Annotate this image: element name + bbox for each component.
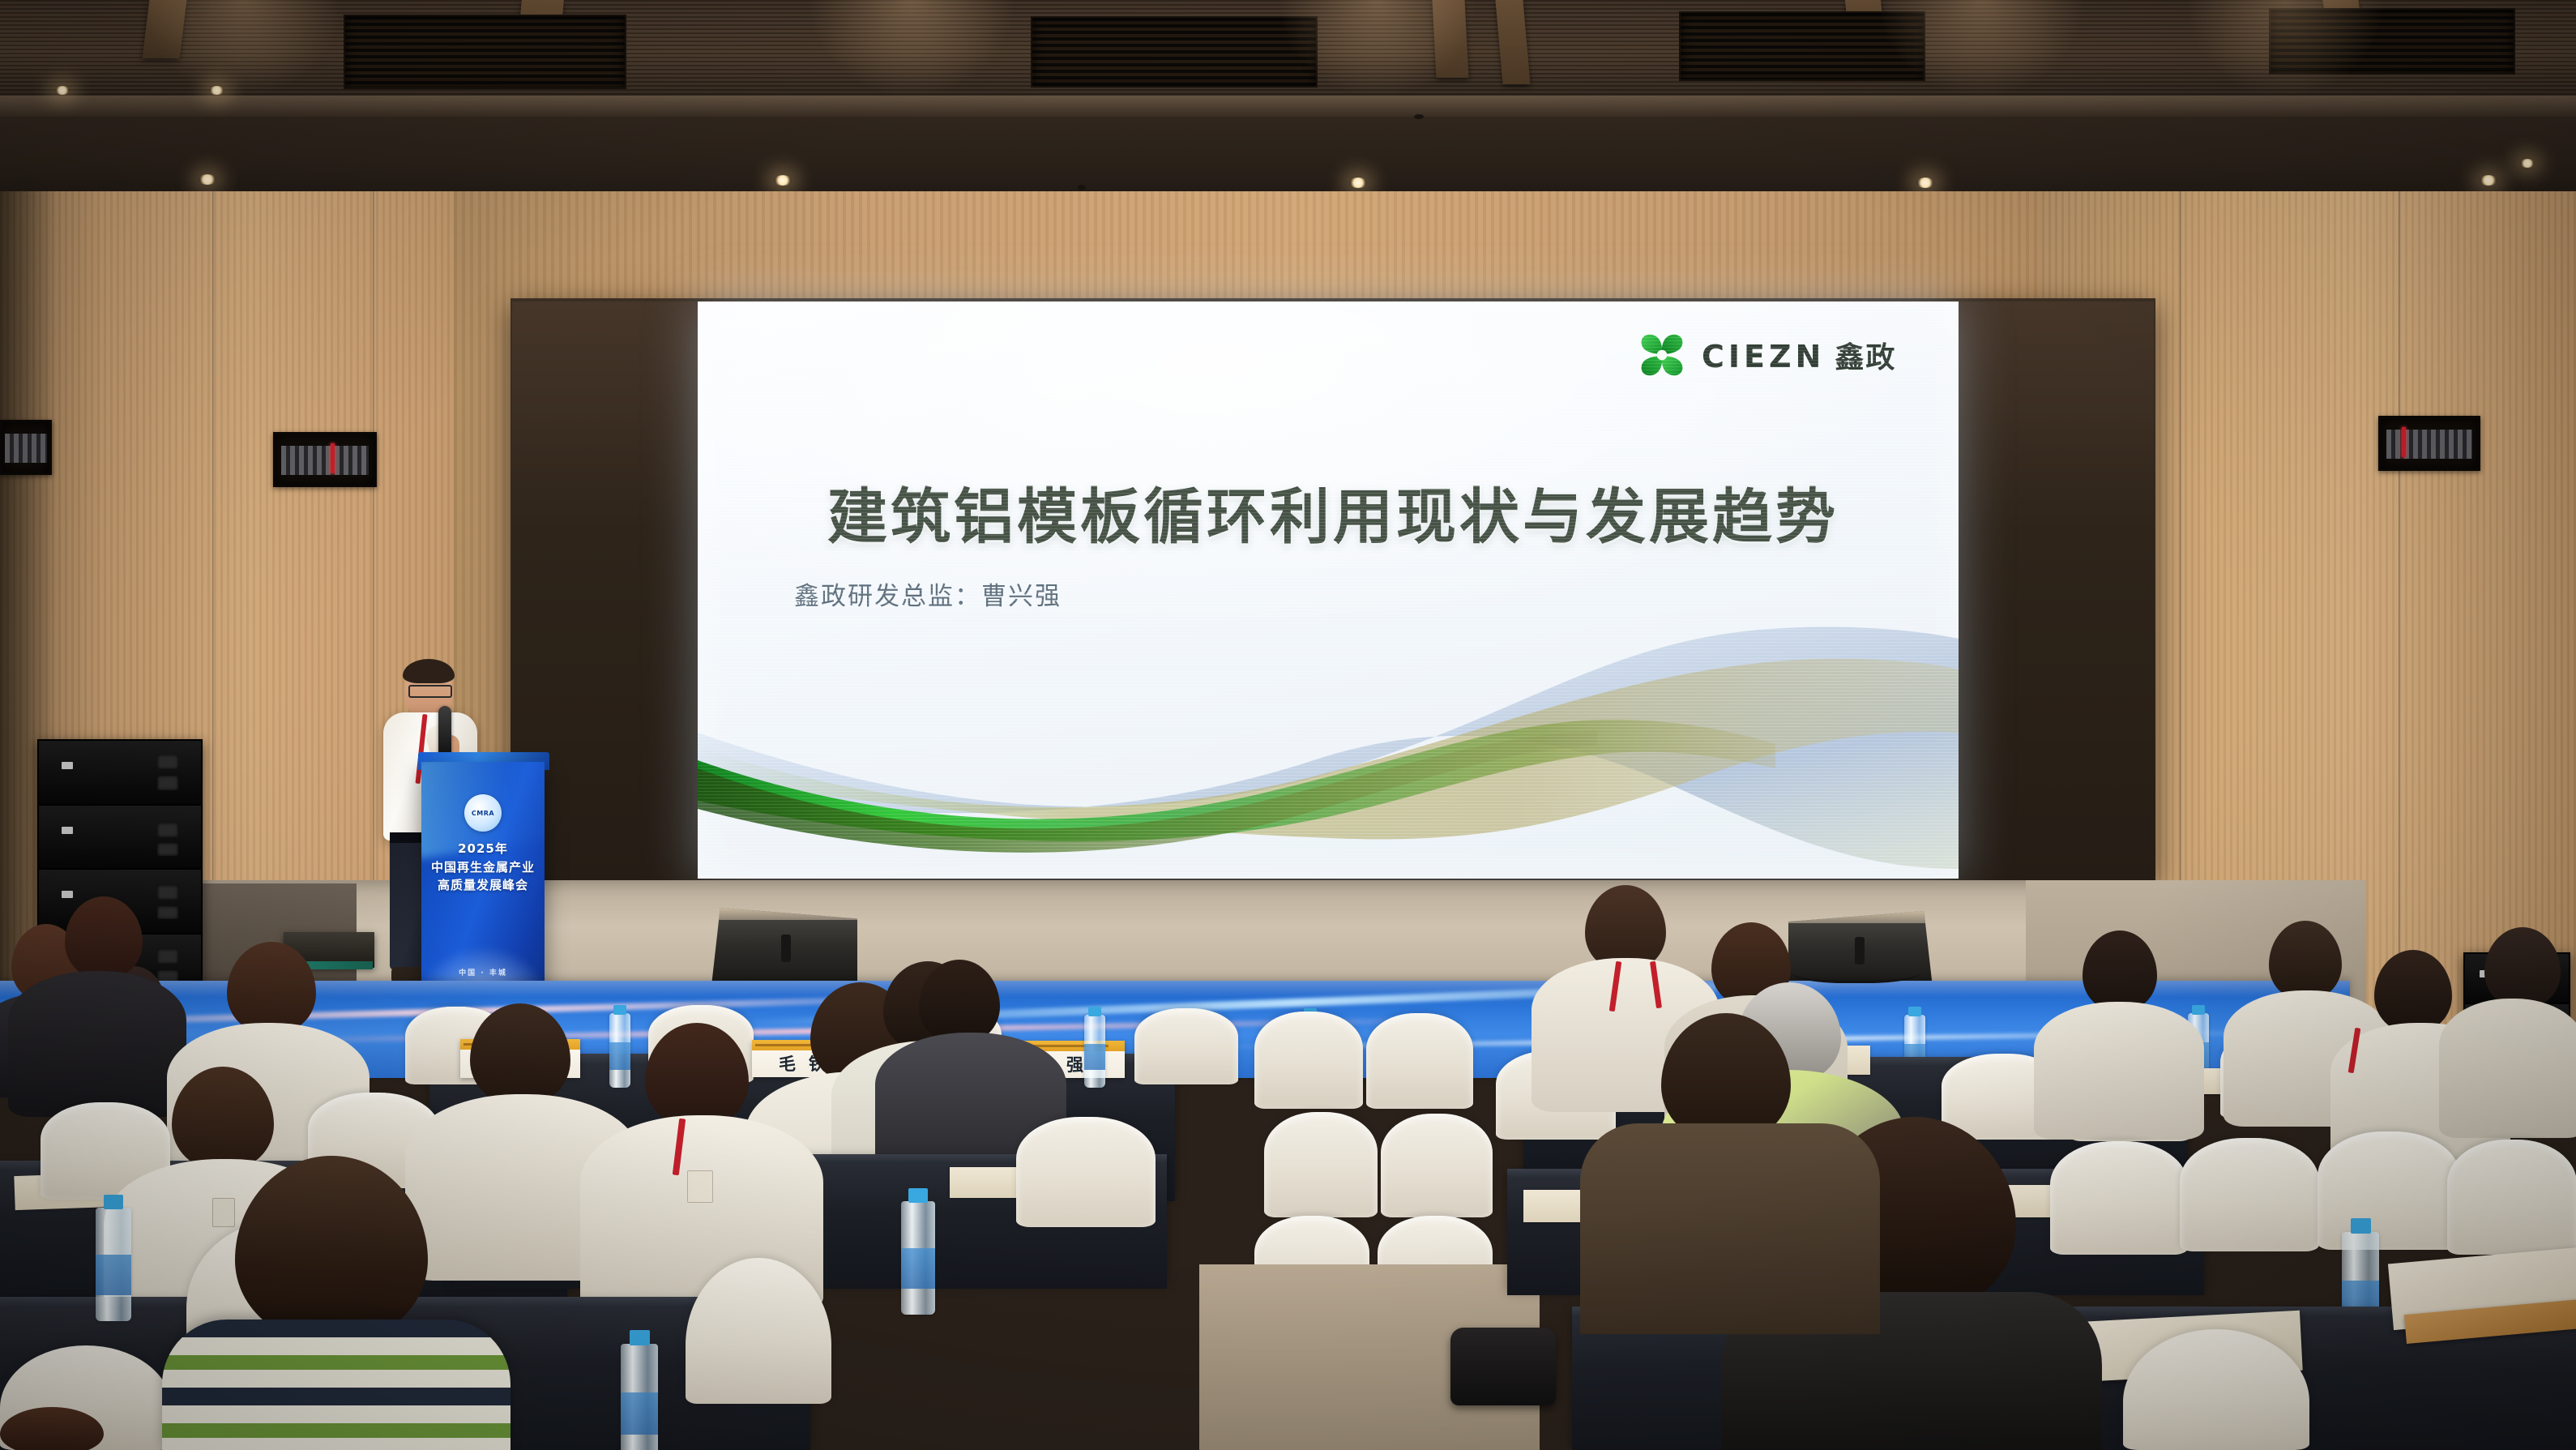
slide-logo: CIEZN 鑫政 (1637, 323, 1904, 387)
cmra-emblem-text: CMRA (472, 810, 494, 817)
ceiling-downlight (2520, 159, 2535, 168)
chair (1264, 1112, 1378, 1217)
attendee-torso (2034, 1002, 2204, 1140)
logo-latin-text: CIEZN (1702, 339, 1825, 374)
ceiling-downlight (2480, 175, 2497, 186)
stage-cable (1791, 956, 1920, 983)
slide-title: 建筑铝模板循环利用现状与发展趋势 (794, 468, 1872, 555)
ceiling-sensor (1078, 185, 1086, 190)
attendee-head (2083, 930, 2157, 1012)
chair (2180, 1138, 2319, 1251)
water-bottle (1084, 1015, 1105, 1088)
attendee-torso (2439, 999, 2576, 1138)
microphone (438, 706, 451, 756)
attendee-badge (212, 1198, 235, 1227)
slide-subtitle: 鑫政研发总监：曹兴强 (794, 575, 1523, 612)
cmra-emblem-icon: CMRA (464, 794, 502, 832)
ciezn-pinwheel-icon (1637, 330, 1687, 380)
led-screen[interactable]: CIEZN 鑫政 建筑铝模板循环利用现状与发展趋势 鑫政研发总监：曹兴强 (698, 302, 1959, 879)
ceiling-light-wash (1280, 0, 1475, 96)
ceiling-light-wash (1880, 0, 2083, 96)
ceiling-downlight (774, 175, 792, 186)
ceiling-downlight (55, 86, 70, 95)
presenter-glasses (408, 685, 452, 698)
ceiling-light-wash (2188, 0, 2382, 96)
chair (2318, 1131, 2460, 1250)
slide-wave-graphic (698, 626, 1959, 879)
chair (2050, 1141, 2188, 1255)
ceiling-light-wash (146, 0, 340, 96)
podium-event-text: 2025年 中国再生金属产业 高质量发展峰会 (421, 840, 545, 895)
chair (1381, 1114, 1493, 1217)
attendee-striped-polo (162, 1320, 511, 1450)
ceiling-light-wash (810, 0, 1013, 96)
attendee-torso (1580, 1123, 1880, 1334)
water-bottle (609, 1013, 630, 1088)
wall-display-niche (273, 432, 377, 487)
logo-chinese-text: 鑫政 (1835, 334, 1896, 376)
podium-line-2: 中国再生金属产业 (421, 858, 545, 877)
chair (1254, 1012, 1363, 1109)
chair (1366, 1013, 1473, 1109)
ceiling (0, 0, 2576, 207)
screen-right-dark-panel (1959, 302, 2154, 879)
podium-line-3: 高质量发展峰会 (421, 876, 545, 895)
attendee-badge (687, 1170, 713, 1203)
presenter-hair (403, 659, 455, 683)
wall-display-niche (0, 420, 52, 475)
ceiling-soffit-band (0, 96, 2576, 117)
ceiling-downlight (1916, 178, 1934, 188)
wall-display-niche (2378, 416, 2480, 471)
chair (1134, 1008, 1238, 1084)
water-bottle (96, 1208, 131, 1321)
ceiling-sensor (1414, 114, 1424, 119)
ceiling-vent-grille (344, 15, 626, 89)
floor-bag (1450, 1328, 1556, 1405)
ceiling-vent-grille (1031, 16, 1318, 88)
conference-hall-photo: CIEZN 鑫政 建筑铝模板循环利用现状与发展趋势 鑫政研发总监：曹兴强 CMR… (0, 0, 2576, 1450)
ceiling-downlight (1349, 178, 1367, 188)
water-bottle (621, 1344, 658, 1450)
ceiling-downlight (209, 86, 224, 95)
ceiling-downlight (199, 174, 216, 185)
chair (2447, 1140, 2576, 1255)
chair (1016, 1117, 1156, 1227)
wall-seam (2399, 191, 2401, 1002)
podium-line-1: 2025年 (421, 840, 545, 858)
water-bottle (901, 1201, 935, 1315)
attendee-torso (8, 971, 186, 1117)
attendee-head (2484, 927, 2561, 1008)
